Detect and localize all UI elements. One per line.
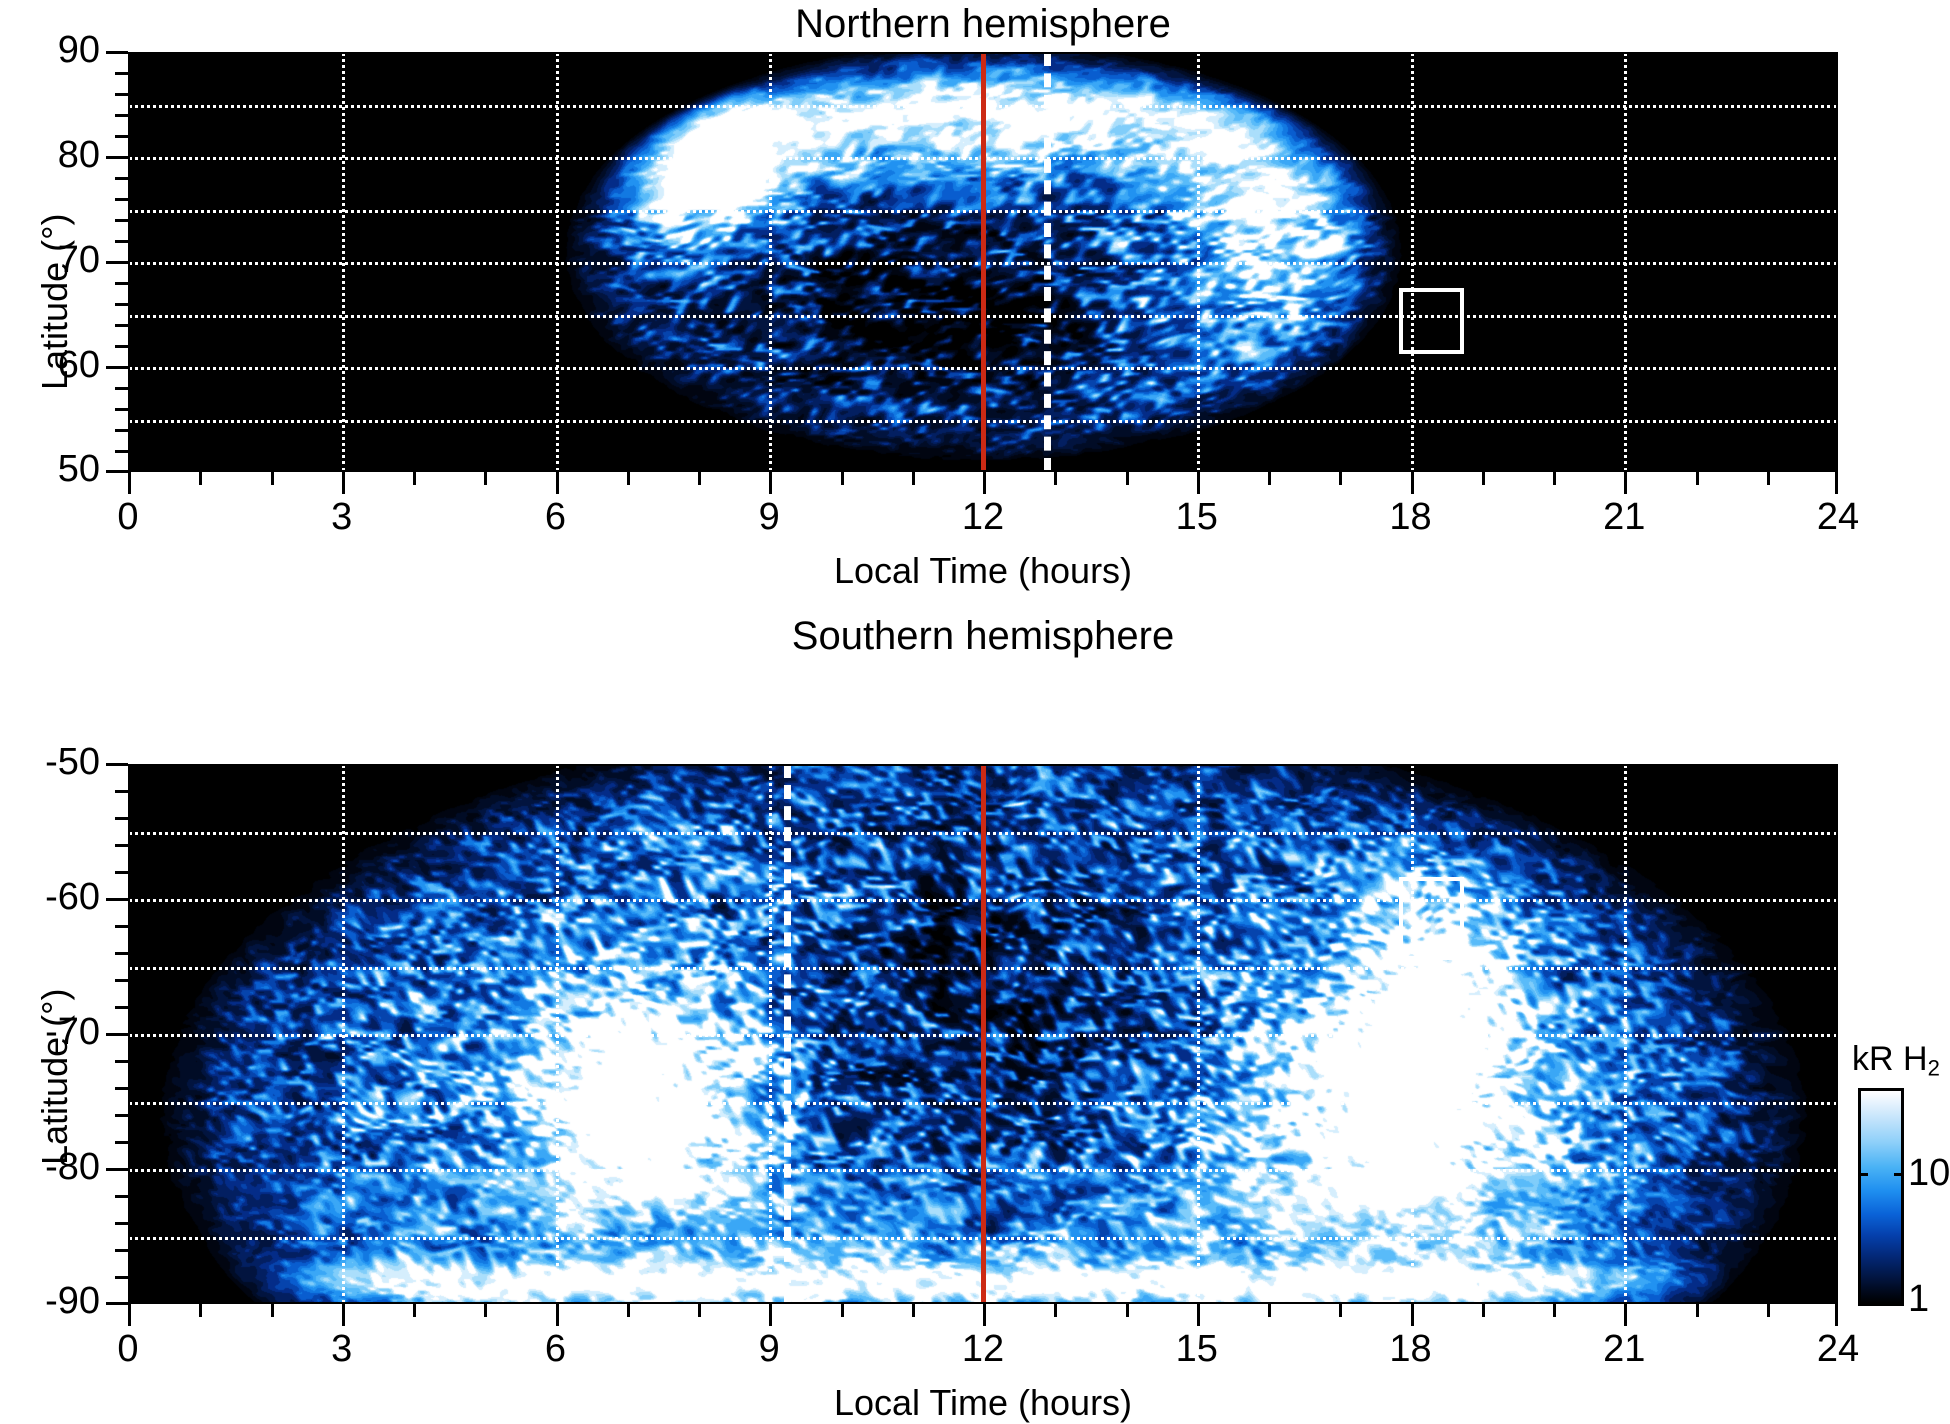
- yaxis-label-south: Latitude (°): [34, 989, 76, 1165]
- colorbar-gradient: [1858, 1088, 1904, 1306]
- xtick-minor-south: [271, 1304, 274, 1317]
- ytick-minor-north: [115, 408, 128, 411]
- gridline-lt-15-south: [1197, 764, 1200, 1304]
- xtick-label-9-south: 9: [689, 1328, 849, 1371]
- ytick-minor-north: [115, 72, 128, 75]
- xtick-minor-south: [484, 1304, 487, 1317]
- ytick-minor-north: [115, 324, 128, 327]
- ytick-minor-north: [115, 135, 128, 138]
- xtick-3-north: [342, 472, 345, 494]
- ytick-minor-south: [115, 1222, 128, 1225]
- plot-area-north: [128, 52, 1838, 472]
- xtick-minor-north: [1268, 472, 1271, 485]
- ytick-minor-south: [115, 817, 128, 820]
- ytick-minor-north: [115, 387, 128, 390]
- xtick-label-3-south: 3: [262, 1328, 422, 1371]
- ytick-minor-south: [115, 844, 128, 847]
- xtick-21-north: [1624, 472, 1627, 494]
- gridline-lt-18-south: [1411, 764, 1414, 1304]
- ytick-m90-south: [106, 1302, 128, 1305]
- terminator-dashed-line-south: [784, 764, 791, 1304]
- xtick-minor-south: [1767, 1304, 1770, 1317]
- ytick-minor-north: [115, 282, 128, 285]
- ytick-minor-north: [115, 450, 128, 453]
- xtick-15-north: [1197, 472, 1200, 494]
- xtick-12-north: [983, 472, 986, 494]
- ytick-minor-north: [115, 198, 128, 201]
- xtick-0-south: [128, 1304, 131, 1326]
- xtick-minor-south: [1696, 1304, 1699, 1317]
- xtick-label-9-north: 9: [689, 496, 849, 539]
- ytick-minor-south: [115, 1006, 128, 1009]
- ytick-label-m90: -90: [0, 1280, 100, 1323]
- ytick-m50-south: [106, 763, 128, 766]
- xtick-12-south: [983, 1304, 986, 1326]
- xtick-minor-south: [1553, 1304, 1556, 1317]
- ytick-minor-north: [115, 429, 128, 432]
- xtick-label-18-north: 18: [1331, 496, 1491, 539]
- xtick-label-0-north: 0: [48, 496, 208, 539]
- xtick-label-6-south: 6: [476, 1328, 636, 1371]
- colorbar-tick-10-right: [1894, 1173, 1904, 1176]
- ytick-label-m50: -50: [0, 741, 100, 784]
- gridline-lt-3: [342, 52, 345, 472]
- xtick-minor-north: [1553, 472, 1556, 485]
- xtick-label-3-north: 3: [262, 496, 422, 539]
- xtick-label-12-south: 12: [903, 1328, 1063, 1371]
- xtick-minor-south: [698, 1304, 701, 1317]
- ytick-minor-south: [115, 1087, 128, 1090]
- xtick-0-north: [128, 472, 131, 494]
- xtick-9-north: [769, 472, 772, 494]
- xtick-minor-north: [1767, 472, 1770, 485]
- terminator-dashed-line-north: [1044, 52, 1051, 472]
- colorbar-tick-10: [1858, 1173, 1868, 1176]
- xtick-label-6-north: 6: [476, 496, 636, 539]
- ytick-m70-south: [106, 1033, 128, 1036]
- ytick-minor-south: [115, 1249, 128, 1252]
- ytick-m80-south: [106, 1168, 128, 1171]
- ytick-minor-south: [115, 952, 128, 955]
- xaxis-label-south: Local Time (hours): [128, 1382, 1838, 1424]
- ytick-minor-south: [115, 979, 128, 982]
- noon-meridian-line-north: [981, 52, 986, 472]
- ytick-minor-south: [115, 1141, 128, 1144]
- xtick-6-south: [556, 1304, 559, 1326]
- xtick-label-0-south: 0: [48, 1328, 208, 1371]
- ytick-m60-south: [106, 898, 128, 901]
- reference-box-south: [1399, 877, 1464, 960]
- xtick-label-24-north: 24: [1758, 496, 1918, 539]
- ytick-label-80: 80: [0, 134, 100, 177]
- colorbar-title-text: kR H: [1852, 1040, 1928, 1078]
- gridline-lt-3-south: [342, 764, 345, 1304]
- ytick-minor-north: [115, 240, 128, 243]
- xtick-minor-north: [413, 472, 416, 485]
- ytick-minor-south: [115, 871, 128, 874]
- xtick-minor-north: [1339, 472, 1342, 485]
- ytick-minor-north: [115, 177, 128, 180]
- xtick-minor-north: [1054, 472, 1057, 485]
- gridline-lt-9-south: [769, 764, 772, 1304]
- ytick-minor-north: [115, 93, 128, 96]
- xtick-label-12-north: 12: [903, 496, 1063, 539]
- xtick-9-south: [769, 1304, 772, 1326]
- panel-title-north: Northern hemisphere: [128, 2, 1838, 47]
- colorbar-label-10: 10: [1908, 1152, 1950, 1195]
- xtick-label-18-south: 18: [1331, 1328, 1491, 1371]
- colorbar-label-1: 1: [1908, 1278, 1929, 1321]
- xtick-minor-north: [484, 472, 487, 485]
- xtick-minor-north: [627, 472, 630, 485]
- ytick-minor-south: [115, 1276, 128, 1279]
- gridline-lt-6-south: [556, 764, 559, 1304]
- ytick-minor-south: [115, 790, 128, 793]
- xtick-minor-north: [271, 472, 274, 485]
- xtick-24-north: [1835, 472, 1838, 494]
- yaxis-label-north: Latitude (°): [34, 214, 76, 390]
- noon-meridian-line-south: [981, 764, 986, 1304]
- gridline-lt-21: [1624, 52, 1627, 472]
- ytick-minor-south: [115, 1195, 128, 1198]
- xtick-minor-north: [1482, 472, 1485, 485]
- ytick-minor-north: [115, 219, 128, 222]
- panel-title-south: Southern hemisphere: [128, 614, 1838, 659]
- colorbar-title: kR H2: [1852, 1040, 1940, 1082]
- xtick-minor-north: [1126, 472, 1129, 485]
- xtick-minor-south: [1268, 1304, 1271, 1317]
- ytick-90-north: [106, 51, 128, 54]
- xtick-minor-south: [912, 1304, 915, 1317]
- ytick-50-north: [106, 470, 128, 473]
- xtick-15-south: [1197, 1304, 1200, 1326]
- ytick-70-north: [106, 261, 128, 264]
- reference-box-north: [1399, 288, 1464, 354]
- ytick-80-north: [106, 156, 128, 159]
- gridline-lt-18: [1411, 52, 1414, 472]
- xtick-label-21-north: 21: [1544, 496, 1704, 539]
- xtick-minor-north: [841, 472, 844, 485]
- ytick-minor-south: [115, 925, 128, 928]
- gridline-lt-9: [769, 52, 772, 472]
- ytick-label-m60: -60: [0, 876, 100, 919]
- plot-area-south: [128, 764, 1838, 1304]
- xtick-minor-south: [841, 1304, 844, 1317]
- figure-root: Northern hemisphere: [0, 0, 1950, 1423]
- ytick-minor-south: [115, 1114, 128, 1117]
- xtick-minor-south: [1126, 1304, 1129, 1317]
- colorbar-title-subscript: 2: [1928, 1056, 1940, 1081]
- xtick-6-north: [556, 472, 559, 494]
- xtick-minor-north: [199, 472, 202, 485]
- ytick-minor-south: [115, 1060, 128, 1063]
- gridline-lt-15: [1197, 52, 1200, 472]
- xtick-18-north: [1411, 472, 1414, 494]
- xtick-minor-north: [698, 472, 701, 485]
- xtick-21-south: [1624, 1304, 1627, 1326]
- xtick-minor-south: [1482, 1304, 1485, 1317]
- ytick-60-north: [106, 366, 128, 369]
- ytick-minor-north: [115, 345, 128, 348]
- xtick-label-15-south: 15: [1117, 1328, 1277, 1371]
- xtick-24-south: [1835, 1304, 1838, 1326]
- xtick-minor-south: [1054, 1304, 1057, 1317]
- xtick-minor-south: [627, 1304, 630, 1317]
- xtick-label-15-north: 15: [1117, 496, 1277, 539]
- xtick-minor-south: [199, 1304, 202, 1317]
- xtick-minor-north: [912, 472, 915, 485]
- xtick-minor-north: [1696, 472, 1699, 485]
- ytick-label-90: 90: [0, 29, 100, 72]
- gridline-lt-21-south: [1624, 764, 1627, 1304]
- xtick-minor-south: [1339, 1304, 1342, 1317]
- gridline-lt-6: [556, 52, 559, 472]
- xtick-3-south: [342, 1304, 345, 1326]
- xtick-minor-south: [413, 1304, 416, 1317]
- xaxis-label-north: Local Time (hours): [128, 550, 1838, 592]
- xtick-label-21-south: 21: [1544, 1328, 1704, 1371]
- ytick-minor-north: [115, 114, 128, 117]
- ytick-label-50: 50: [0, 448, 100, 491]
- ytick-minor-north: [115, 303, 128, 306]
- xtick-18-south: [1411, 1304, 1414, 1326]
- xtick-label-24-south: 24: [1758, 1328, 1918, 1371]
